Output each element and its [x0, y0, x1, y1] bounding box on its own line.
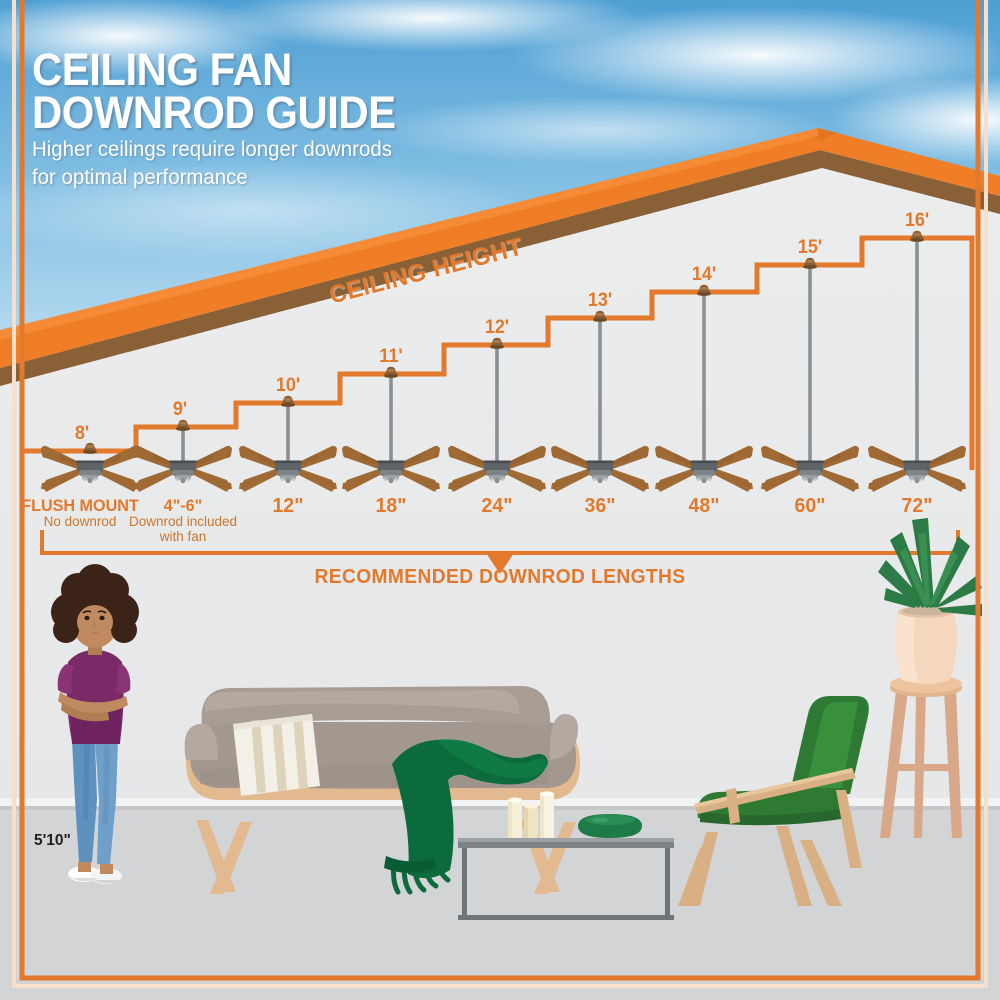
- downrod-label-0: FLUSH MOUNT: [21, 496, 139, 516]
- ceiling-height-label-2: 10': [276, 375, 300, 397]
- ceiling-height-label-7: 15': [798, 237, 822, 259]
- title-line-1: CEILING FAN: [32, 48, 396, 91]
- ceiling-height-label-6: 14': [692, 264, 716, 286]
- striped-pillow: [233, 714, 320, 796]
- ceiling-height-label-4: 12': [485, 317, 509, 339]
- downrod-label-3: 18": [376, 494, 407, 518]
- subtitle-line-1: Higher ceilings require longer downrods: [32, 137, 403, 162]
- decorative-bowl: [578, 814, 642, 838]
- downrod-label-4: 24": [482, 494, 513, 518]
- downrod-note-1: Downrod included with fan: [118, 514, 248, 544]
- downrod-label-8: 72": [902, 494, 933, 518]
- downrod-label-6: 48": [689, 494, 720, 518]
- ceiling-height-label-8: 16': [905, 210, 929, 232]
- downrod-label-7: 60": [795, 494, 826, 518]
- infographic-canvas: CEILING FAN DOWNROD GUIDE Higher ceiling…: [0, 0, 1000, 1000]
- downrod-label-2: 12": [273, 494, 304, 518]
- ceiling-height-label-5: 13': [588, 290, 612, 312]
- downrod-label-1: 4"-6": [164, 496, 203, 516]
- recommended-downrod-lengths-caption: RECOMMENDED DOWNROD LENGTHS: [315, 566, 686, 589]
- person-height-label: 5'10": [34, 832, 71, 850]
- subtitle-line-2: for optimal performance: [32, 165, 403, 190]
- ceiling-height-label-3: 11': [379, 346, 402, 368]
- ceiling-height-label-1: 9': [173, 399, 187, 421]
- title-line-2: DOWNROD GUIDE: [32, 91, 396, 134]
- ceiling-height-label-0: 8': [75, 423, 89, 445]
- title-block: CEILING FAN DOWNROD GUIDE Higher ceiling…: [32, 48, 423, 190]
- downrod-label-5: 36": [585, 494, 616, 518]
